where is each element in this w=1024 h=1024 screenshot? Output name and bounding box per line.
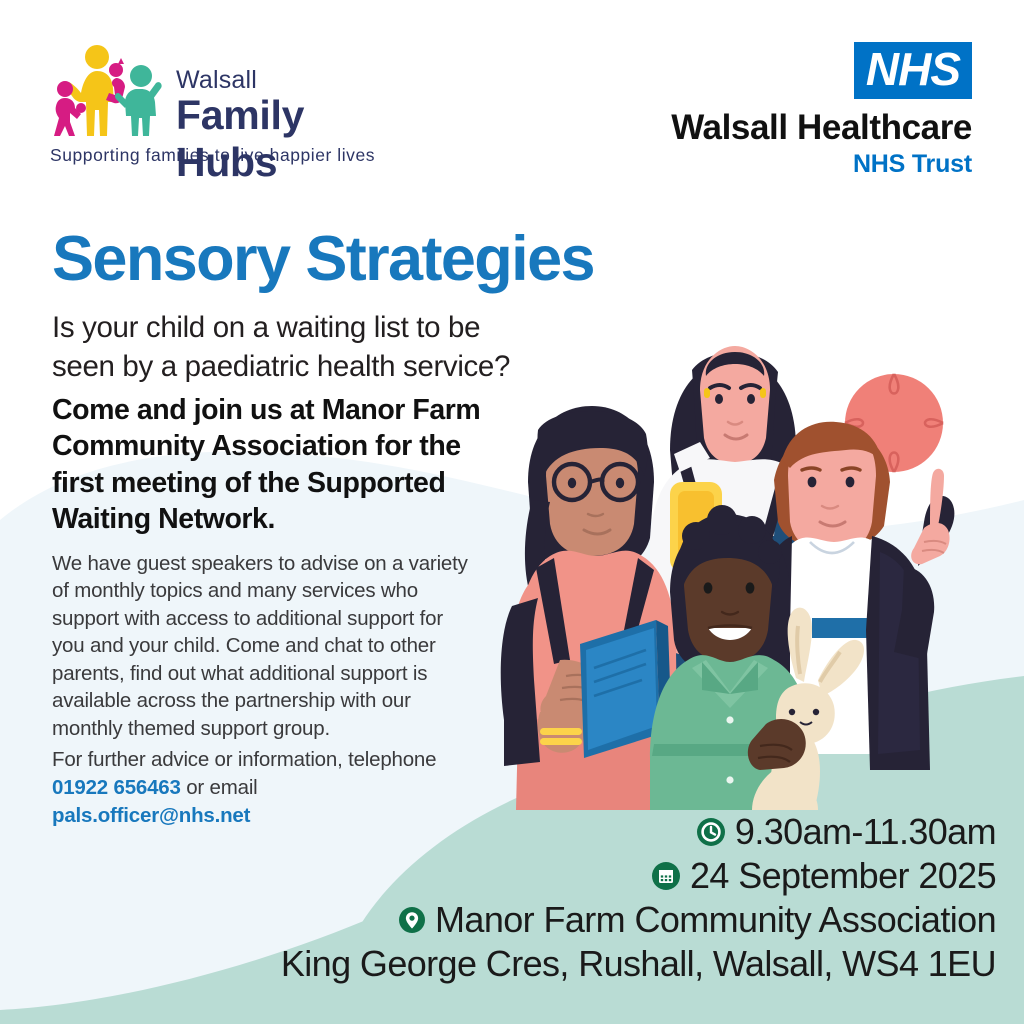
detail-row-venue: Manor Farm Community Association (0, 898, 996, 942)
walsall-family-hubs-logo: Walsall Family Hubs Supporting families … (48, 44, 398, 174)
detail-row-date: 24 September 2025 (0, 854, 996, 898)
event-venue: Manor Farm Community Association (435, 898, 996, 942)
nhs-trust-name: Walsall Healthcare (642, 110, 972, 145)
contact-or: or (186, 776, 204, 799)
group-of-people-illustration (474, 330, 1024, 810)
page-title: Sensory Strategies (52, 228, 594, 291)
contact-line1: For further advice or information, (52, 748, 343, 771)
event-address: King George Cres, Rushall, Walsall, WS4 … (281, 942, 996, 986)
subtitle-question: Is your child on a waiting list to be se… (52, 308, 522, 386)
telephone-label: telephone (348, 748, 436, 771)
hub-logo-word-big: Family Hubs (176, 92, 398, 186)
event-date: 24 September 2025 (690, 854, 996, 898)
email-label: email (210, 776, 258, 799)
body-paragraph: We have guest speakers to advise on a va… (52, 550, 472, 742)
detail-row-address: King George Cres, Rushall, Walsall, WS4 … (0, 942, 996, 986)
nhs-trust-subtitle: NHS Trust (642, 152, 972, 177)
family-group-icon (48, 44, 166, 142)
nhs-box: NHS (854, 42, 972, 99)
detail-row-time: 9.30am-11.30am (0, 810, 996, 854)
hub-logo-tagline: Supporting families to live happier live… (50, 145, 375, 166)
hub-logo-word-small: Walsall (176, 66, 257, 95)
nhs-walsall-healthcare-logo: NHS Walsall Healthcare NHS Trust (642, 42, 972, 172)
location-pin-icon (399, 905, 425, 935)
clock-icon (697, 818, 725, 846)
lead-paragraph: Come and join us at Manor Farm Community… (52, 392, 492, 538)
event-details: 9.30am-11.30am 24 September 2025 (0, 810, 996, 986)
poster-canvas: Walsall Family Hubs Supporting families … (0, 0, 1024, 1024)
telephone-number[interactable]: 01922 656463 (52, 776, 181, 799)
event-time: 9.30am-11.30am (735, 810, 996, 854)
calendar-icon (652, 862, 680, 890)
